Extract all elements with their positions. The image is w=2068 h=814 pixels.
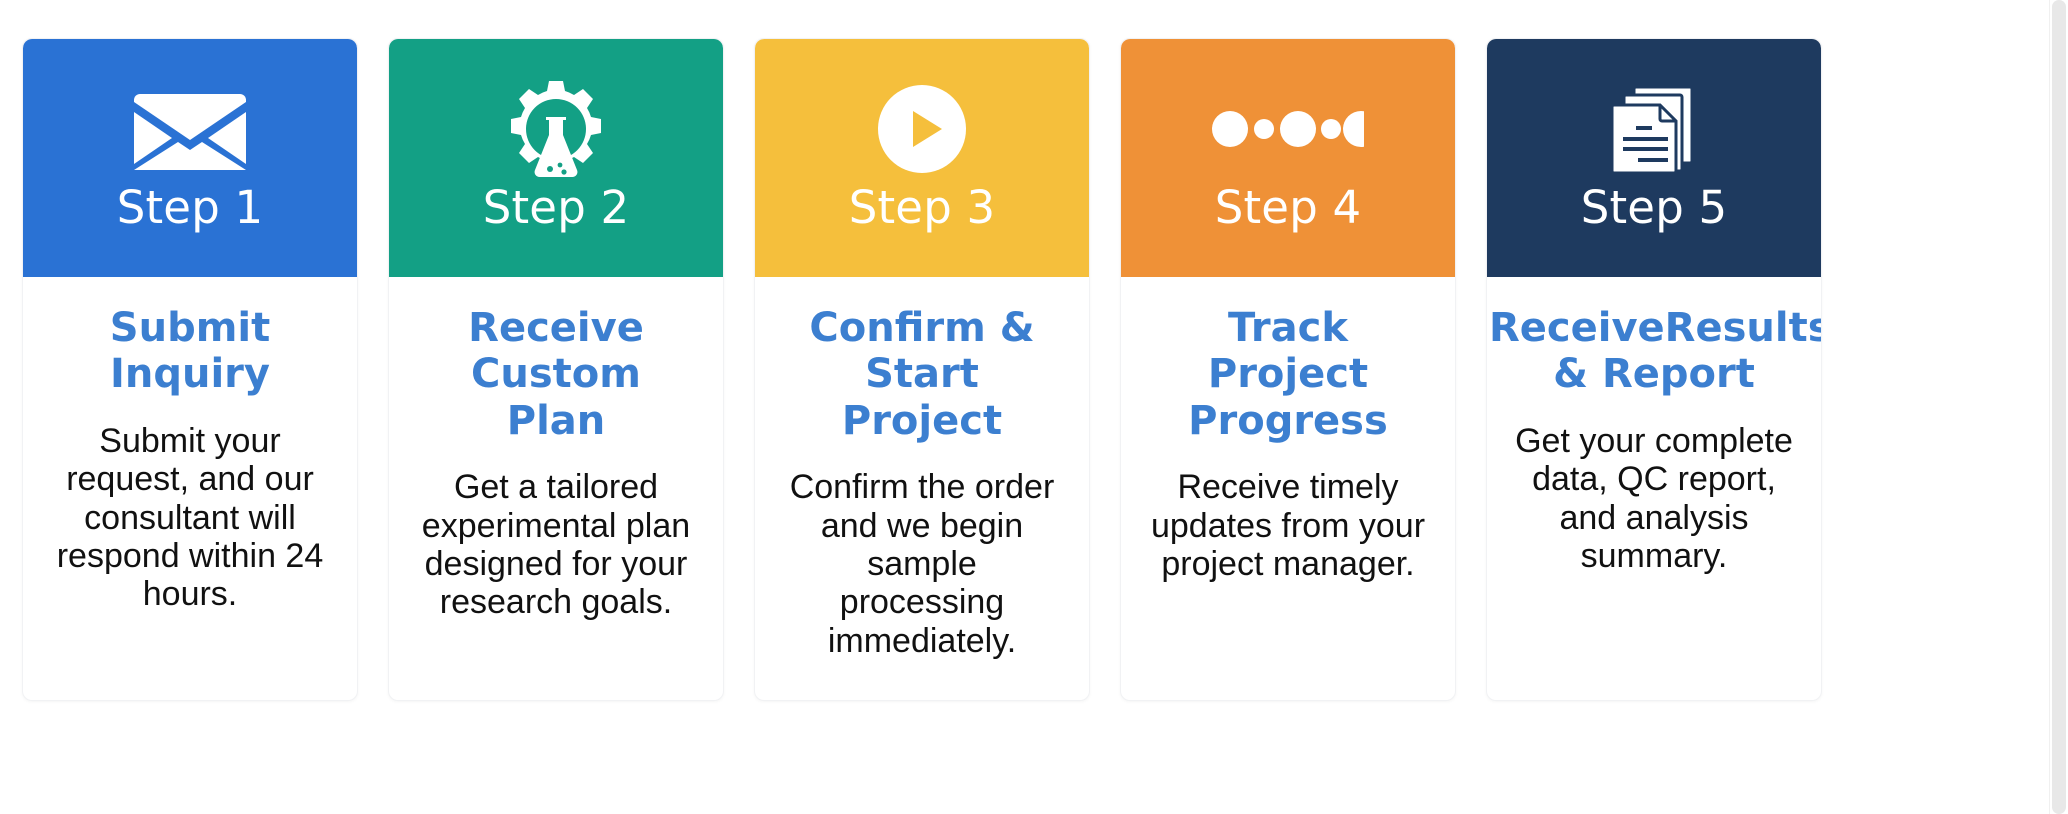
step-card-1-header: Step 1: [23, 39, 357, 277]
step-card-3-header: Step 3: [755, 39, 1089, 277]
step-card-3[interactable]: Step 3 Confirm & Start Project Confirm t…: [754, 38, 1090, 701]
step-card-4-description: Receive timely updates from your project…: [1147, 468, 1429, 583]
step-card-3-badge: Step 3: [849, 185, 996, 230]
step-card-2-header: Step 2: [389, 39, 723, 277]
step-card-2-description: Get a tailored experimental plan designe…: [415, 468, 697, 622]
step-card-2-badge: Step 2: [483, 185, 630, 230]
step-card-4[interactable]: Step 4 Track Project Progress Receive ti…: [1120, 38, 1456, 701]
step-card-4-title: Track Project Progress: [1147, 305, 1429, 444]
envelope-icon: [134, 83, 246, 175]
step-card-5-description: Get your complete data, QC report, and a…: [1513, 422, 1795, 576]
step-card-1-title: Submit Inquiry: [49, 305, 331, 398]
step-card-3-body: Confirm & Start Project Confirm the orde…: [755, 277, 1089, 700]
process-steps-row: Step 1 Submit Inquiry Submit your reques…: [22, 38, 1822, 701]
step-card-4-badge: Step 4: [1215, 185, 1362, 230]
step-card-5[interactable]: Step 5 ReceiveResults & Report Get your …: [1486, 38, 1822, 701]
step-card-1-body: Submit Inquiry Submit your request, and …: [23, 277, 357, 700]
step-card-5-body: ReceiveResults & Report Get your complet…: [1487, 277, 1821, 700]
step-card-2-title: Receive Custom Plan: [415, 305, 697, 444]
step-card-3-description: Confirm the order and we begin sample pr…: [781, 468, 1063, 660]
step-card-4-header: Step 4: [1121, 39, 1455, 277]
step-card-2[interactable]: Step 2 Receive Custom Plan Get a tailore…: [388, 38, 724, 701]
step-card-3-title: Confirm & Start Project: [781, 305, 1063, 444]
step-card-1[interactable]: Step 1 Submit Inquiry Submit your reques…: [22, 38, 358, 701]
process-steps-page: Step 1 Submit Inquiry Submit your reques…: [0, 0, 2050, 814]
page-scrollbar[interactable]: [2049, 0, 2068, 814]
step-card-2-body: Receive Custom Plan Get a tailored exper…: [389, 277, 723, 700]
documents-stack-icon: [1606, 83, 1702, 175]
step-card-5-badge: Step 5: [1581, 185, 1728, 230]
step-card-4-body: Track Project Progress Receive timely up…: [1121, 277, 1455, 700]
gear-flask-icon: [504, 83, 608, 175]
play-circle-icon: [876, 83, 968, 175]
page-scrollbar-thumb[interactable]: [2052, 0, 2066, 814]
step-card-5-title: ReceiveResults & Report: [1489, 305, 1819, 398]
step-card-1-description: Submit your request, and our consultant …: [49, 422, 331, 614]
step-card-5-header: Step 5: [1487, 39, 1821, 277]
progress-dots-icon: [1212, 83, 1364, 175]
step-card-1-badge: Step 1: [117, 185, 264, 230]
